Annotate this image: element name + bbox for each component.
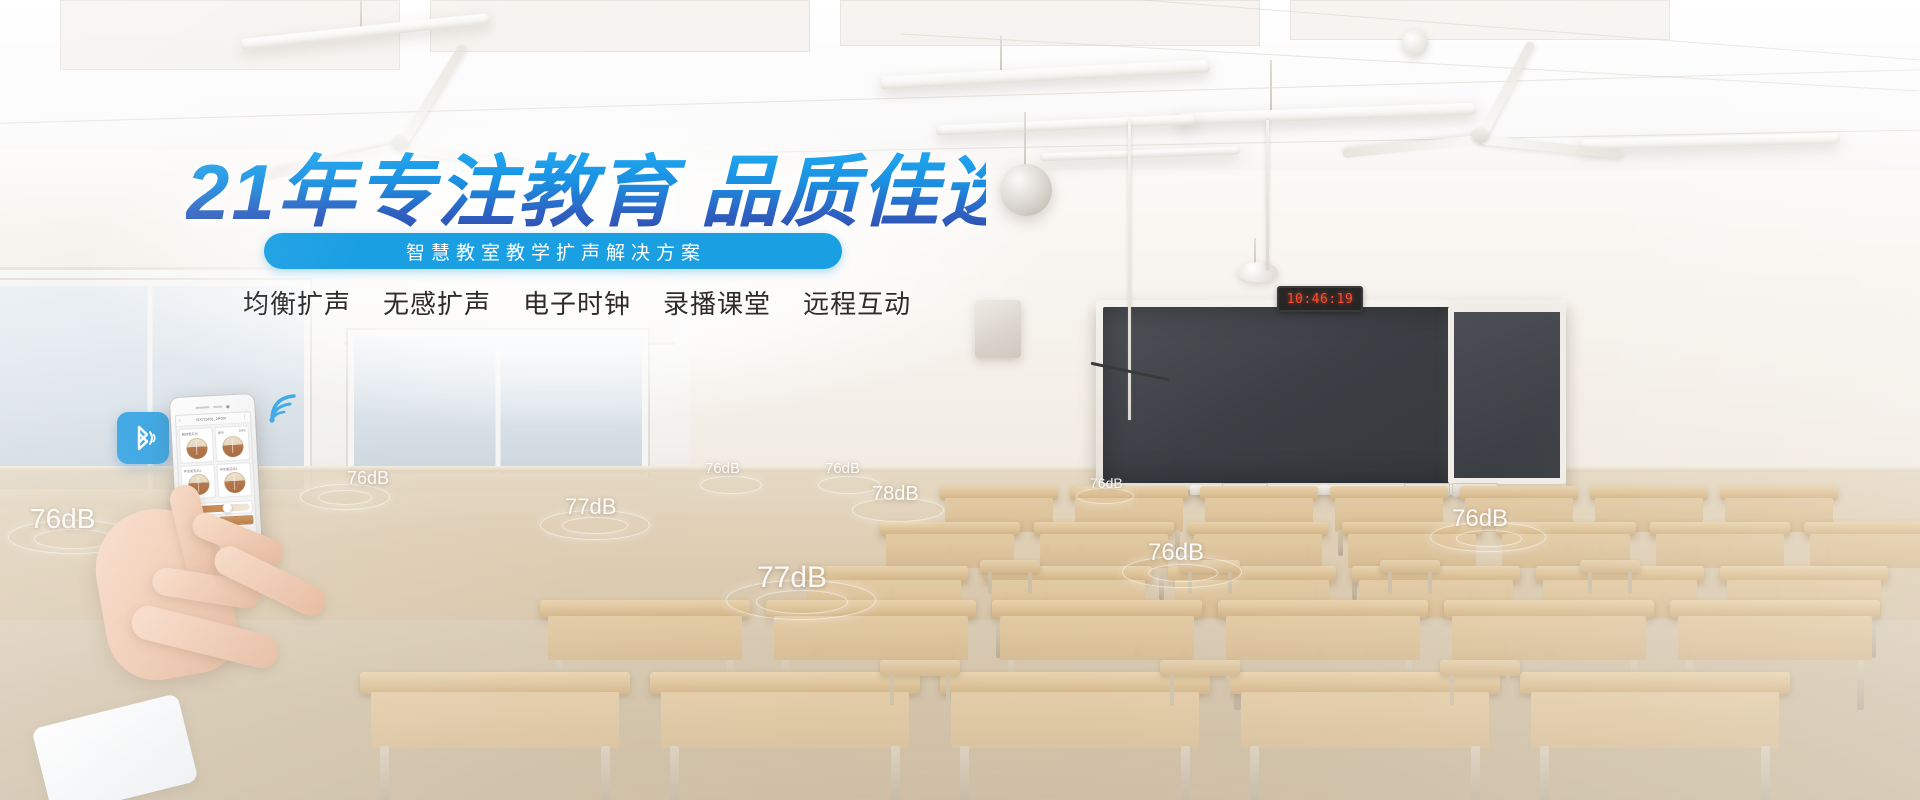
feature-item-4: 远程互动	[803, 284, 911, 321]
desk	[650, 672, 920, 762]
sound-ripple	[700, 476, 762, 494]
db-label-5: 78dB	[872, 483, 919, 506]
volume-knob[interactable]	[221, 435, 243, 457]
phone-speaker	[195, 406, 209, 409]
desk	[1218, 600, 1428, 670]
control-card-label: 音乐MP3	[218, 428, 246, 434]
wifi-signal-icon	[266, 386, 312, 426]
db-label-9: 76dB	[1452, 505, 1508, 533]
subtitle-pill: 智慧教室教学扩声解决方案	[264, 233, 842, 269]
subtitle-text: 智慧教室教学扩声解决方案	[400, 238, 706, 265]
feature-item-0: 均衡扩声	[243, 284, 351, 321]
db-label-8: 76dB	[1148, 539, 1204, 567]
ceiling-fan	[1330, 100, 1630, 170]
blackboard-wing-right	[1448, 306, 1566, 484]
microphone-stand	[1266, 120, 1269, 270]
page-title: 21年专注教育 品质佳选	[186, 152, 986, 234]
feature-item-1: 无感扩声	[383, 284, 491, 321]
wall-speaker	[975, 300, 1021, 358]
feature-item-3: 录播课堂	[663, 284, 771, 321]
more-vertical-icon[interactable]: ⋮	[242, 415, 247, 420]
volume-knob[interactable]	[185, 437, 207, 459]
db-label-7: 77dB	[757, 561, 827, 595]
desk	[1520, 672, 1790, 762]
feature-item-2: 电子时钟	[523, 284, 631, 321]
window	[348, 330, 648, 480]
control-card-0[interactable]: 教师麦克风	[178, 427, 214, 463]
desk	[360, 672, 630, 762]
phone-sensor	[213, 406, 222, 408]
desk	[1670, 600, 1880, 670]
microphone-stand	[1128, 120, 1131, 420]
db-label-4: 76dB	[825, 460, 860, 477]
chevron-left-icon[interactable]: ‹	[179, 418, 181, 423]
control-card-1[interactable]: 音乐MP3	[214, 425, 250, 461]
desk	[1230, 672, 1500, 762]
phone-top-bar	[174, 402, 250, 412]
app-title: NX7(365)_2PGR	[196, 416, 226, 422]
ceiling-sensor	[1402, 30, 1428, 56]
feature-list: 均衡扩声无感扩声电子时钟录播课堂远程互动	[243, 284, 903, 321]
clock-time: 10:46:19	[1287, 292, 1354, 307]
led-clock: 10:46:19	[1277, 286, 1363, 312]
db-label-6: 76dB	[1090, 475, 1123, 491]
phone-camera-icon	[226, 405, 229, 408]
db-label-3: 76dB	[705, 460, 740, 477]
db-label-2: 77dB	[565, 494, 616, 520]
ceiling-speaker-small	[1238, 262, 1278, 282]
bluetooth-icon	[126, 421, 160, 455]
bluetooth-badge[interactable]	[117, 412, 169, 464]
hand-holding-phone	[60, 470, 380, 800]
desk	[540, 600, 750, 670]
sound-ripple	[818, 476, 880, 494]
control-card-label: 教师麦克风	[182, 430, 210, 436]
hero-banner: 10:46:19	[0, 0, 1920, 800]
